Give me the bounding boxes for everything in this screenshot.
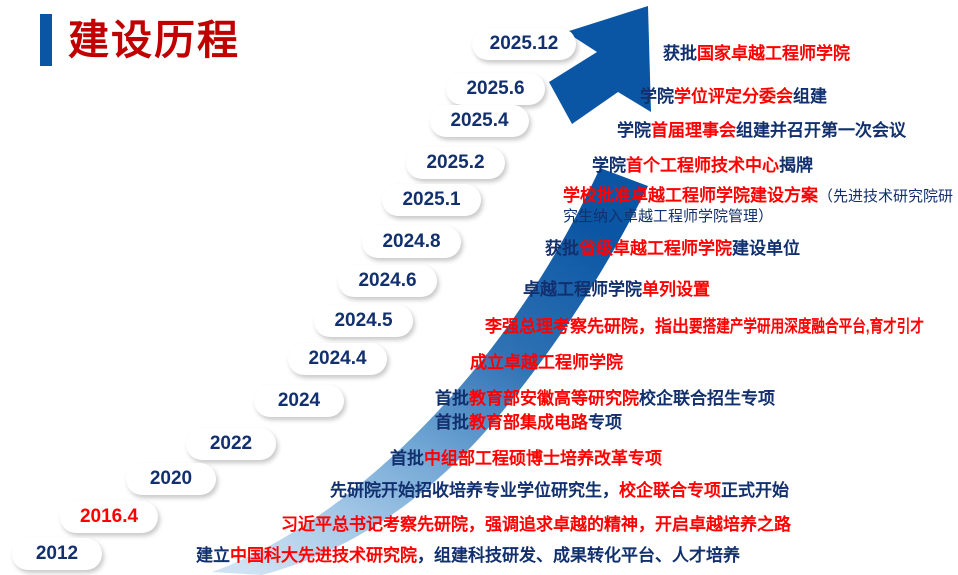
event-row: 学校批准卓越工程师学院建设方案（先进技术研究院研究生纳入卓越工程师学院管理） xyxy=(563,186,957,225)
event-text-segment: 校企联合专项 xyxy=(619,481,721,500)
event-row: 获批国家卓越工程师学院 xyxy=(663,44,850,65)
event-text-segment: 专项 xyxy=(588,413,622,432)
event-text-segment: 学院 xyxy=(640,87,674,106)
event-row: 学院学位评定分委会组建 xyxy=(640,87,827,108)
date-pill[interactable]: 2025.1 xyxy=(382,184,481,216)
event-row: 先研院开始招收培养专业学位研究生，校企联合专项正式开始 xyxy=(330,481,789,502)
event-text-segment: 首批 xyxy=(390,449,424,468)
event-row: 获批省级卓越工程师学院建设单位 xyxy=(545,239,800,260)
date-pill[interactable]: 2025.2 xyxy=(406,147,505,179)
event-text-segment: 组建 xyxy=(793,87,827,106)
event-text-segment: 学位评定分委会 xyxy=(674,87,793,106)
event-text-segment: 校企联合招生专项 xyxy=(639,389,775,408)
event-text-segment: 李强总理考察先研院，指出 xyxy=(485,317,689,336)
event-text-segment: 单列设置 xyxy=(642,280,710,299)
date-pill[interactable]: 2024.5 xyxy=(314,305,413,337)
date-pill[interactable]: 2024 xyxy=(254,385,344,417)
event-row: 习近平总书记考察先研院，强调追求卓越的精神，开启卓越培养之路 xyxy=(281,515,791,536)
timeline-infographic: 建设历程 2025.12 2025.6 2025.4 2025.2 2025.1… xyxy=(0,0,958,575)
event-text-segment: 组建并召开第一次会议 xyxy=(736,121,906,140)
event-row: 学院首个工程师技术中心揭牌 xyxy=(592,156,813,177)
event-row: 首批教育部安徽高等研究院校企联合招生专项 xyxy=(435,389,775,410)
date-pill[interactable]: 2024.4 xyxy=(288,343,387,375)
event-row: 卓越工程师学院单列设置 xyxy=(523,280,710,301)
event-row: 李强总理考察先研院，指出要搭建产学研用深度融合平台,育才引才 xyxy=(485,317,958,338)
event-text-segment: 正式开始 xyxy=(721,481,789,500)
event-text-segment: 学院 xyxy=(617,121,651,140)
event-text-segment: 习近平总书记考察先研院，强调追求卓越的精神，开启卓越培养之路 xyxy=(281,515,791,534)
date-pill[interactable]: 2022 xyxy=(186,428,276,460)
date-pill[interactable]: 2025.6 xyxy=(446,73,545,105)
event-row: 成立卓越工程师学院 xyxy=(470,353,623,374)
event-text-segment: ，组建科技研发、成果转化平台、人才培养 xyxy=(417,546,740,565)
date-pill[interactable]: 2020 xyxy=(126,463,216,495)
date-pill[interactable]: 2016.4 xyxy=(60,501,158,533)
event-text-segment: 获批 xyxy=(663,44,697,63)
event-row: 首批中组部工程硕博士培养改革专项 xyxy=(390,449,662,470)
event-text-segment: 建立 xyxy=(196,546,230,565)
event-text-segment: 成立卓越工程师学院 xyxy=(470,353,623,372)
event-text-segment: 中国科大先进技术研究院 xyxy=(230,546,417,565)
date-pill[interactable]: 2025.12 xyxy=(472,28,576,60)
event-row: 建立中国科大先进技术研究院，组建科技研发、成果转化平台、人才培养 xyxy=(196,546,740,567)
event-text-segment: 中组部工程硕博士培养改革专项 xyxy=(424,449,662,468)
event-text-segment: 学院 xyxy=(592,156,626,175)
event-text-segment: 首批 xyxy=(435,389,469,408)
date-pill[interactable]: 2025.4 xyxy=(430,105,529,137)
event-text-segment: 教育部安徽高等研究院 xyxy=(469,389,639,408)
event-text-segment: 省级卓越工程师学院 xyxy=(579,239,732,258)
event-text-segment: 首个工程师技术中心 xyxy=(626,156,779,175)
event-text-segment: 要搭建产学研用深度融合平台,育才引才 xyxy=(689,317,924,338)
event-text-segment: 学校批准卓越工程师学院建设方案 xyxy=(563,186,818,205)
event-text-segment: 先研院开始招收培养专业学位研究生， xyxy=(330,481,619,500)
event-text-segment: 首届理事会 xyxy=(651,121,736,140)
event-row: 学院首届理事会组建并召开第一次会议 xyxy=(617,121,906,142)
date-pill[interactable]: 2024.8 xyxy=(362,226,461,258)
event-text-segment: 获批 xyxy=(545,239,579,258)
arrow-head xyxy=(549,6,651,124)
event-text-segment: 建设单位 xyxy=(732,239,800,258)
event-text-segment: 揭牌 xyxy=(779,156,813,175)
date-pill[interactable]: 2024.6 xyxy=(338,265,437,297)
event-text-segment: 首批 xyxy=(435,413,469,432)
event-row: 首批教育部集成电路专项 xyxy=(435,413,622,434)
date-pill[interactable]: 2012 xyxy=(12,538,102,570)
event-text-segment: 卓越工程师学院 xyxy=(523,280,642,299)
event-text-segment: 教育部集成电路 xyxy=(469,413,588,432)
event-text-segment: 国家卓越工程师学院 xyxy=(697,44,850,63)
